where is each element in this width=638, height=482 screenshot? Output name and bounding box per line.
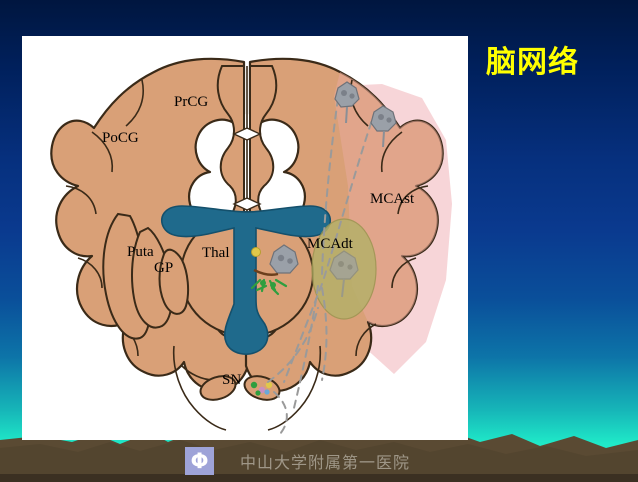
- label-mcast: MCAst: [370, 191, 415, 207]
- brain-diagram: PrCG PoCG Puta GP Thal MCAst MCAdt SN: [22, 36, 468, 440]
- label-sn: SN: [222, 372, 241, 388]
- label-thal: Thal: [202, 245, 230, 261]
- label-puta: Puta: [127, 244, 154, 260]
- page-title: 脑网络: [486, 46, 632, 80]
- label-gp: GP: [154, 260, 173, 276]
- institution-logo: Φ: [185, 447, 214, 475]
- figure-panel: PrCG PoCG Puta GP Thal MCAst MCAdt SN: [22, 36, 468, 440]
- label-mcadt: MCAdt: [307, 236, 354, 252]
- institution-name: 中山大学附属第一医院: [240, 449, 410, 473]
- label-prcg: PrCG: [174, 94, 208, 110]
- label-pocg: PoCG: [102, 130, 139, 146]
- slide-root: PrCG PoCG Puta GP Thal MCAst MCAdt SN 脑网…: [0, 0, 638, 482]
- logo-phi-icon: Φ: [191, 451, 209, 472]
- slide-footer: Φ 中山大学附属第一医院: [0, 440, 638, 482]
